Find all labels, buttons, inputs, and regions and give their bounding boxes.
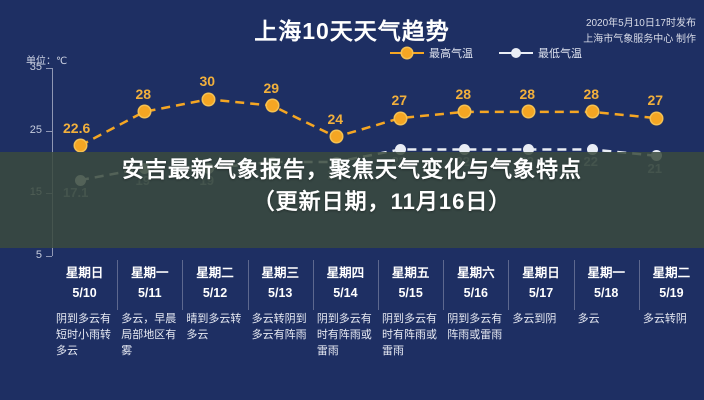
high-temp-value-label: 30 bbox=[200, 73, 216, 89]
forecast-date: 5/15 bbox=[382, 286, 439, 300]
forecast-column[interactable]: 星期五5/15阴到多云有时有阵雨或雷雨 bbox=[378, 256, 443, 400]
forecast-description: 阴到多云有时有阵雨或雷雨 bbox=[317, 311, 374, 359]
headline-line-1: 安吉最新气象报告，聚焦天气变化与气象特点 bbox=[0, 154, 704, 186]
forecast-description: 晴到多云转多云 bbox=[186, 311, 243, 343]
high-temp-point bbox=[139, 106, 150, 117]
forecast-weekday: 星期六 bbox=[447, 262, 504, 281]
column-divider bbox=[117, 260, 118, 310]
forecast-date: 5/18 bbox=[578, 286, 635, 300]
high-temp-point bbox=[267, 100, 278, 111]
forecast-description: 阴到多云有短时小雨转多云 bbox=[56, 311, 113, 359]
high-temp-point bbox=[459, 106, 470, 117]
headline-line-2: （更新日期，11月16日） bbox=[0, 186, 704, 218]
forecast-description: 多云转阴到多云有阵雨 bbox=[252, 311, 309, 343]
column-divider bbox=[508, 260, 509, 310]
y-axis-tick-label: 35 bbox=[16, 61, 42, 73]
forecast-description: 多云 bbox=[578, 311, 635, 327]
forecast-weekday: 星期二 bbox=[186, 262, 243, 281]
high-temp-value-label: 22.6 bbox=[63, 120, 90, 136]
forecast-column[interactable]: 星期三5/13多云转阴到多云有阵雨 bbox=[248, 256, 313, 400]
forecast-weekday: 星期日 bbox=[56, 262, 113, 281]
high-temp-value-label: 28 bbox=[456, 86, 472, 102]
forecast-description: 多云到阴 bbox=[512, 311, 569, 327]
forecast-date: 5/17 bbox=[512, 286, 569, 300]
forecast-weekday: 星期四 bbox=[317, 262, 374, 281]
high-temp-value-label: 27 bbox=[648, 92, 664, 108]
forecast-description: 阴到多云有阵雨或雷雨 bbox=[447, 311, 504, 343]
y-axis-tick-label: 25 bbox=[16, 124, 42, 136]
forecast-weekday: 星期五 bbox=[382, 262, 439, 281]
forecast-column[interactable]: 星期日5/17多云到阴 bbox=[508, 256, 573, 400]
column-divider bbox=[639, 260, 640, 310]
high-temp-value-label: 28 bbox=[584, 86, 600, 102]
forecast-date: 5/19 bbox=[643, 286, 700, 300]
headline-overlay-text: 安吉最新气象报告，聚焦天气变化与气象特点 （更新日期，11月16日） bbox=[0, 154, 704, 218]
y-axis-tick-label: 5 bbox=[16, 249, 42, 261]
forecast-weekday: 星期一 bbox=[121, 262, 178, 281]
forecast-column[interactable]: 星期二5/19多云转阴 bbox=[639, 256, 704, 400]
column-divider bbox=[182, 260, 183, 310]
forecast-weekday: 星期二 bbox=[643, 262, 700, 281]
forecast-weekday: 星期日 bbox=[512, 262, 569, 281]
forecast-date: 5/11 bbox=[121, 286, 178, 300]
weather-trend-infographic: 上海10天天气趋势 2020年5月10日17时发布 上海市气象服务中心 制作 单… bbox=[0, 0, 704, 400]
forecast-date: 5/16 bbox=[447, 286, 504, 300]
forecast-column[interactable]: 星期六5/16阴到多云有阵雨或雷雨 bbox=[443, 256, 508, 400]
high-temp-value-label: 29 bbox=[264, 80, 280, 96]
forecast-date: 5/13 bbox=[252, 286, 309, 300]
column-divider bbox=[443, 260, 444, 310]
forecast-column[interactable]: 星期一5/18多云 bbox=[574, 256, 639, 400]
column-divider bbox=[378, 260, 379, 310]
high-temp-line bbox=[80, 99, 656, 145]
forecast-description: 阴到多云有时有阵雨或雷雨 bbox=[382, 311, 439, 359]
high-temp-point bbox=[203, 94, 214, 105]
high-temp-value-label: 27 bbox=[392, 92, 408, 108]
column-divider bbox=[574, 260, 575, 310]
forecast-description: 多云，早晨局部地区有雾 bbox=[121, 311, 178, 359]
column-divider bbox=[248, 260, 249, 310]
forecast-column[interactable]: 星期日5/10阴到多云有短时小雨转多云 bbox=[52, 256, 117, 400]
y-axis-tick-mark bbox=[46, 131, 52, 132]
forecast-weekday: 星期三 bbox=[252, 262, 309, 281]
forecast-column[interactable]: 星期二5/12晴到多云转多云 bbox=[182, 256, 247, 400]
high-temp-point bbox=[651, 113, 662, 124]
forecast-date: 5/12 bbox=[186, 286, 243, 300]
high-temp-point bbox=[587, 106, 598, 117]
forecast-description: 多云转阴 bbox=[643, 311, 700, 327]
forecast-column[interactable]: 星期一5/11多云，早晨局部地区有雾 bbox=[117, 256, 182, 400]
high-temp-point bbox=[75, 140, 86, 151]
forecast-table: 星期日5/10阴到多云有短时小雨转多云星期一5/11多云，早晨局部地区有雾星期二… bbox=[52, 256, 704, 400]
forecast-date: 5/10 bbox=[56, 286, 113, 300]
high-temp-value-label: 24 bbox=[328, 111, 344, 127]
forecast-column[interactable]: 星期四5/14阴到多云有时有阵雨或雷雨 bbox=[313, 256, 378, 400]
column-divider bbox=[313, 260, 314, 310]
forecast-weekday: 星期一 bbox=[578, 262, 635, 281]
high-temp-point bbox=[395, 113, 406, 124]
y-axis-tick-mark bbox=[46, 68, 52, 69]
high-temp-point bbox=[331, 131, 342, 142]
high-temp-point bbox=[523, 106, 534, 117]
forecast-date: 5/14 bbox=[317, 286, 374, 300]
high-temp-value-label: 28 bbox=[136, 86, 152, 102]
high-temp-value-label: 28 bbox=[520, 86, 536, 102]
